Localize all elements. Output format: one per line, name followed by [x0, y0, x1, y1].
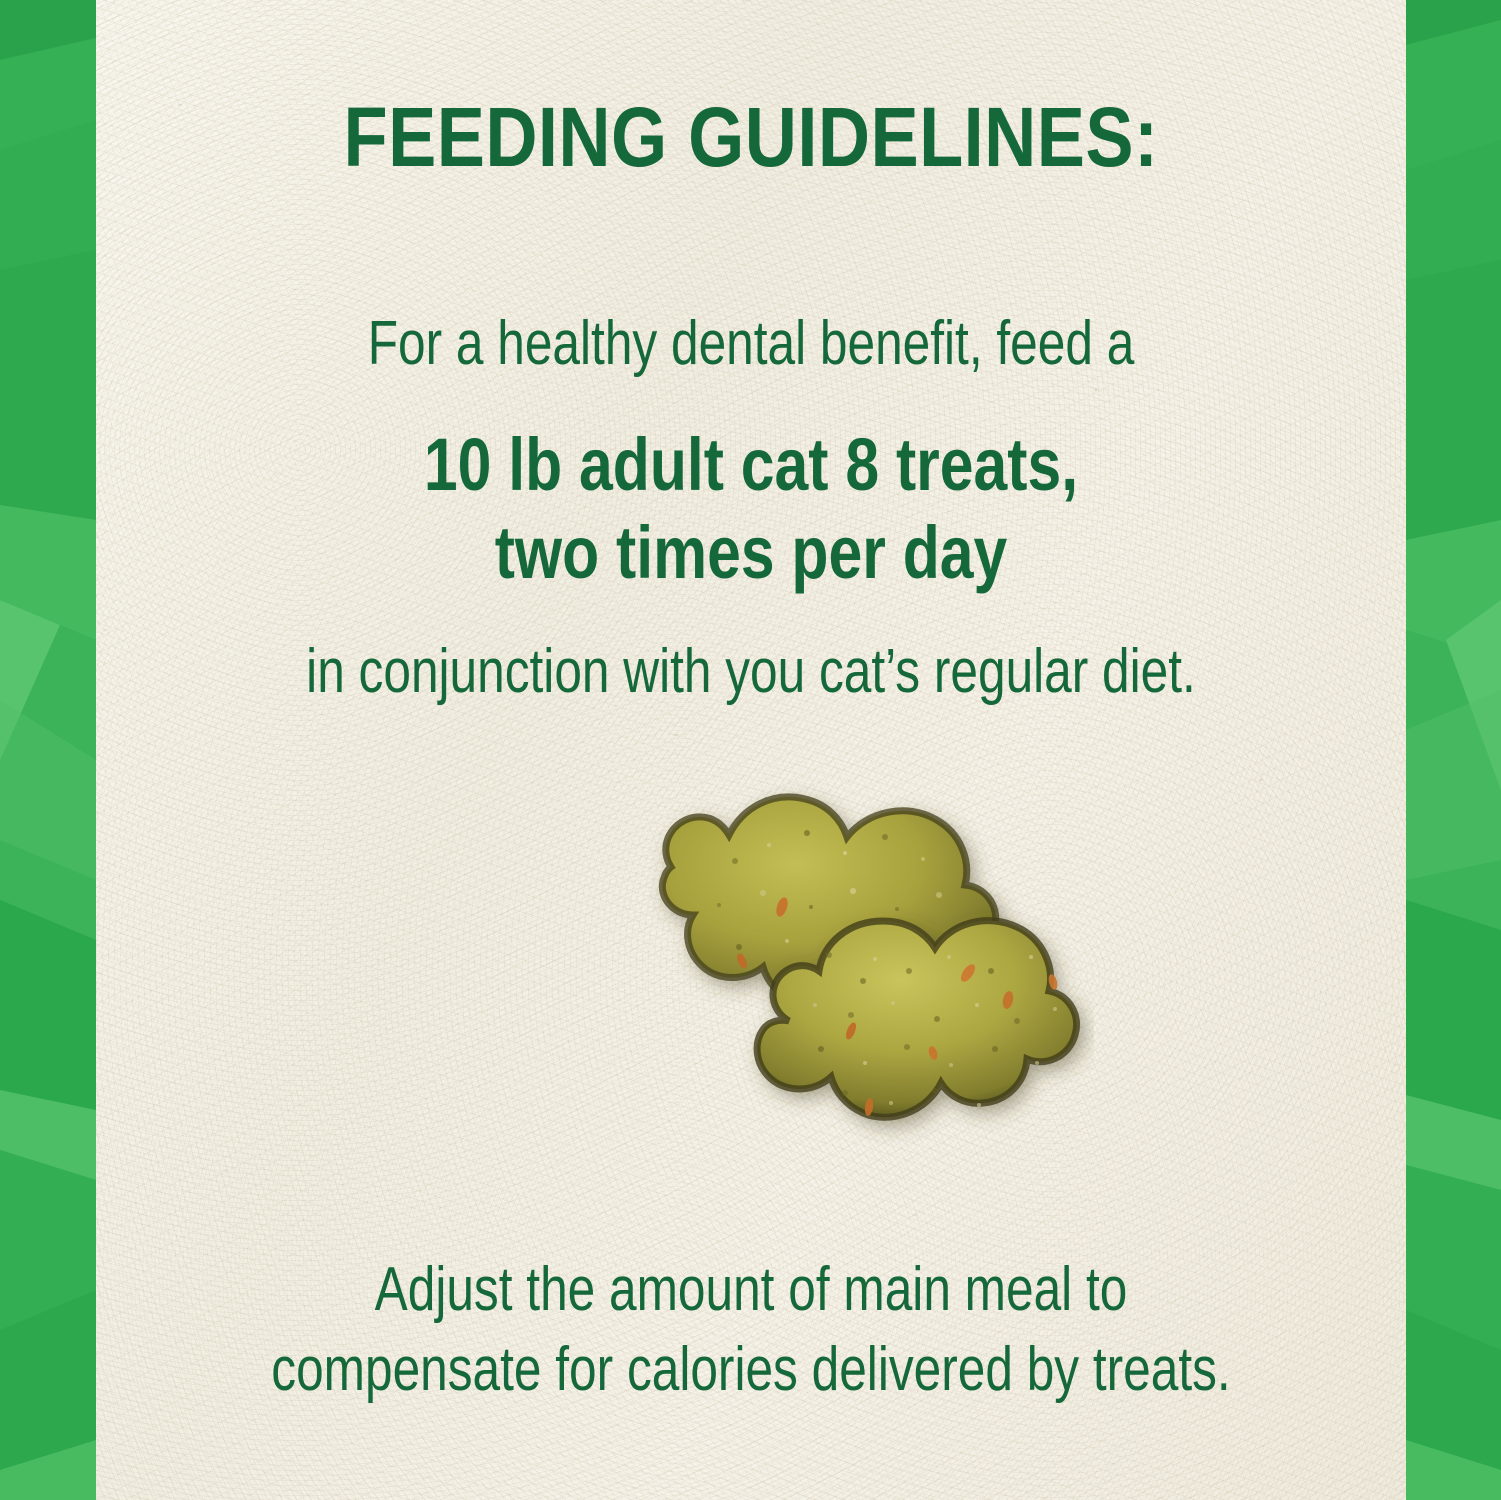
- page-title: FEEDING GUIDELINES:: [188, 95, 1315, 179]
- emphasis-line-2: two times per day: [214, 515, 1288, 590]
- right-band-facets: [1406, 0, 1501, 1500]
- treat-illustration: [639, 775, 1094, 1200]
- footer-line-2: compensate for calories delivered by tre…: [227, 1338, 1275, 1401]
- right-green-band: [1406, 0, 1501, 1500]
- cat-treat-photo: [639, 775, 1094, 1200]
- content-column: FEEDING GUIDELINES: For a healthy dental…: [96, 0, 1406, 1500]
- left-green-band: [0, 0, 96, 1500]
- conjunction-line: in conjunction with you cat’s regular di…: [227, 640, 1275, 703]
- intro-line: For a healthy dental benefit, feed a: [227, 312, 1275, 375]
- footer-line-1: Adjust the amount of main meal to: [227, 1258, 1275, 1321]
- feeding-guidelines-panel: FEEDING GUIDELINES: For a healthy dental…: [0, 0, 1501, 1500]
- left-band-facets: [0, 0, 96, 1500]
- emphasis-line-1: 10 lb adult cat 8 treats,: [214, 427, 1288, 502]
